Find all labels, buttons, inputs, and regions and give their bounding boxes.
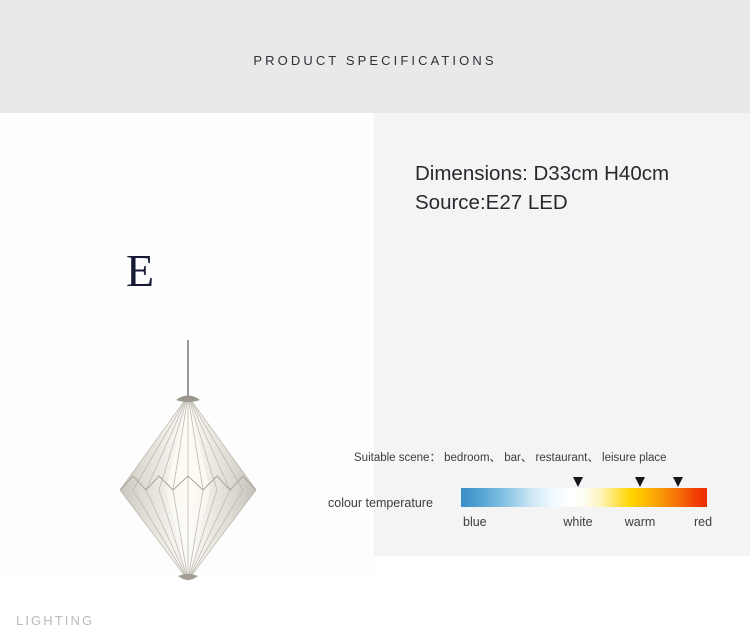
colour-temperature-tick-red: red (668, 515, 738, 529)
colour-temperature-marker-warm (635, 477, 645, 487)
colour-temperature-gradient-bar (461, 488, 707, 507)
page-title: PRODUCT SPECIFICATIONS (0, 53, 750, 68)
pendant-lamp-image (88, 338, 288, 593)
colour-temperature-block: colour temperature blue white warm red (328, 478, 748, 553)
brand-initial-letter: E (126, 248, 154, 294)
spec-text-block: Dimensions: D33cm H40cm Source:E27 LED (415, 159, 735, 217)
specifications-panel: Dimensions: D33cm H40cm Source:E27 LED S… (374, 113, 750, 556)
colour-temperature-tick-warm: warm (605, 515, 675, 529)
product-specification-page: PRODUCT SPECIFICATIONS E (0, 0, 750, 576)
colour-temperature-tick-blue: blue (463, 515, 523, 529)
header-band: PRODUCT SPECIFICATIONS (0, 0, 750, 113)
colour-temperature-label: colour temperature (328, 496, 433, 510)
spec-source-line: Source:E27 LED (415, 188, 735, 217)
suitable-scene-text: Suitable scene： bedroom、 bar、 restaurant… (354, 449, 667, 465)
lamp-top-cap (176, 396, 200, 403)
product-image-panel: E (0, 113, 374, 576)
lamp-bottom-cap (178, 574, 198, 580)
colour-temperature-marker-red (673, 477, 683, 487)
brand-wordmark: LIGHTING (16, 613, 94, 628)
spec-dimensions-line: Dimensions: D33cm H40cm (415, 159, 735, 188)
colour-temperature-tick-white: white (543, 515, 613, 529)
colour-temperature-marker-white (573, 477, 583, 487)
